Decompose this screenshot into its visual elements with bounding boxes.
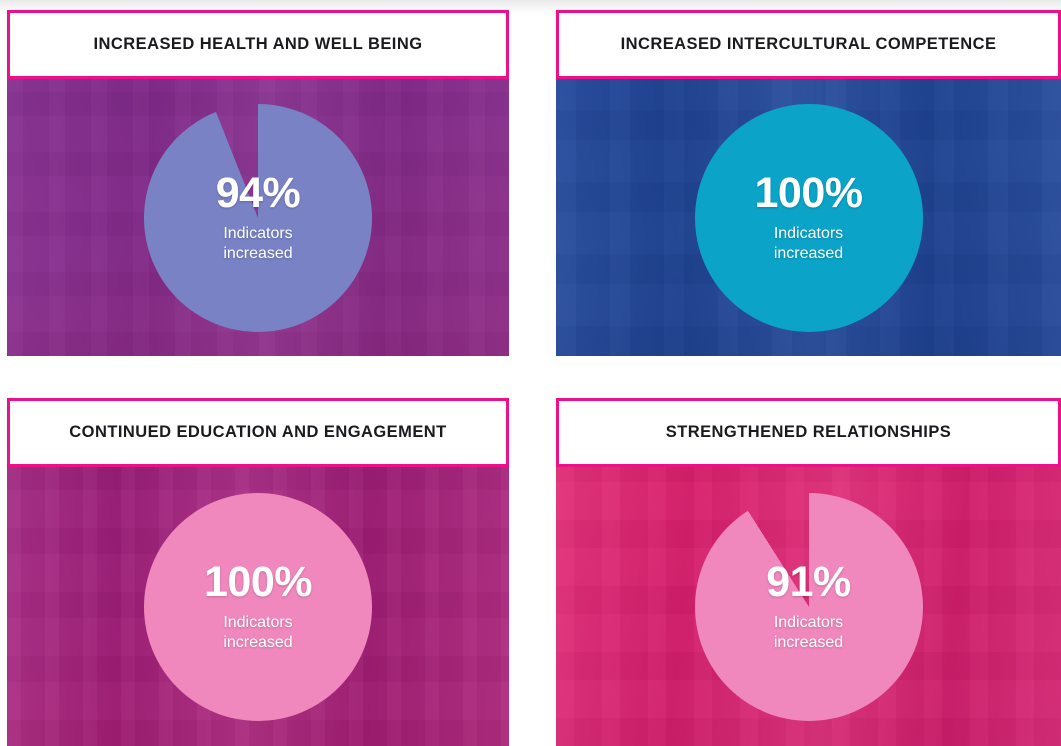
card-title: INCREASED INTERCULTURAL COMPETENCE xyxy=(621,35,997,54)
donut-percent-value: 100% xyxy=(204,561,312,604)
donut-chart-container: 100% Indicators increased xyxy=(556,79,1061,356)
donut-center-label: 100% Indicators increased xyxy=(184,533,332,681)
donut-chart: 91% Indicators increased xyxy=(695,493,923,721)
donut-caption: Indicators increased xyxy=(223,613,292,653)
outcome-card-grid: INCREASED HEALTH AND WELL BEING 94% Indi… xyxy=(0,0,1061,746)
card-title: INCREASED HEALTH AND WELL BEING xyxy=(94,35,423,54)
outcome-card-health-wellbeing[interactable]: INCREASED HEALTH AND WELL BEING 94% Indi… xyxy=(7,10,509,356)
card-title-bar: CONTINUED EDUCATION AND ENGAGEMENT xyxy=(7,398,509,467)
card-title: CONTINUED EDUCATION AND ENGAGEMENT xyxy=(69,423,446,442)
card-photo-area: 91% Indicators increased xyxy=(556,467,1061,746)
donut-caption-line1: Indicators xyxy=(774,225,843,242)
card-photo-area: 100% Indicators increased xyxy=(7,467,509,746)
donut-percent-value: 91% xyxy=(766,561,851,604)
donut-caption: Indicators increased xyxy=(774,224,843,264)
outcome-card-continued-education[interactable]: CONTINUED EDUCATION AND ENGAGEMENT 100% … xyxy=(7,398,509,746)
card-title: STRENGTHENED RELATIONSHIPS xyxy=(666,423,952,442)
donut-chart: 94% Indicators increased xyxy=(144,104,372,332)
outcome-card-intercultural-competence[interactable]: INCREASED INTERCULTURAL COMPETENCE 100% … xyxy=(556,10,1061,356)
donut-center-label: 94% Indicators increased xyxy=(184,144,332,292)
donut-chart-container: 91% Indicators increased xyxy=(556,467,1061,746)
donut-caption-line2: increased xyxy=(223,634,292,651)
donut-caption-line1: Indicators xyxy=(223,614,292,631)
donut-caption-line1: Indicators xyxy=(223,225,292,242)
donut-caption: Indicators increased xyxy=(223,224,292,264)
donut-caption: Indicators increased xyxy=(774,613,843,653)
donut-chart: 100% Indicators increased xyxy=(144,493,372,721)
donut-caption-line1: Indicators xyxy=(774,614,843,631)
donut-chart: 100% Indicators increased xyxy=(695,104,923,332)
donut-chart-container: 94% Indicators increased xyxy=(7,79,509,356)
donut-chart-container: 100% Indicators increased xyxy=(7,467,509,746)
donut-percent-value: 94% xyxy=(216,172,301,215)
donut-percent-value: 100% xyxy=(755,172,863,215)
donut-caption-line2: increased xyxy=(774,634,843,651)
card-title-bar: INCREASED INTERCULTURAL COMPETENCE xyxy=(556,10,1061,79)
card-title-bar: STRENGTHENED RELATIONSHIPS xyxy=(556,398,1061,467)
donut-center-label: 91% Indicators increased xyxy=(735,533,883,681)
card-photo-area: 94% Indicators increased xyxy=(7,79,509,356)
donut-caption-line2: increased xyxy=(223,245,292,262)
card-photo-area: 100% Indicators increased xyxy=(556,79,1061,356)
donut-caption-line2: increased xyxy=(774,245,843,262)
card-title-bar: INCREASED HEALTH AND WELL BEING xyxy=(7,10,509,79)
outcome-card-strengthened-relationships[interactable]: STRENGTHENED RELATIONSHIPS 91% Indicator… xyxy=(556,398,1061,746)
donut-center-label: 100% Indicators increased xyxy=(735,144,883,292)
